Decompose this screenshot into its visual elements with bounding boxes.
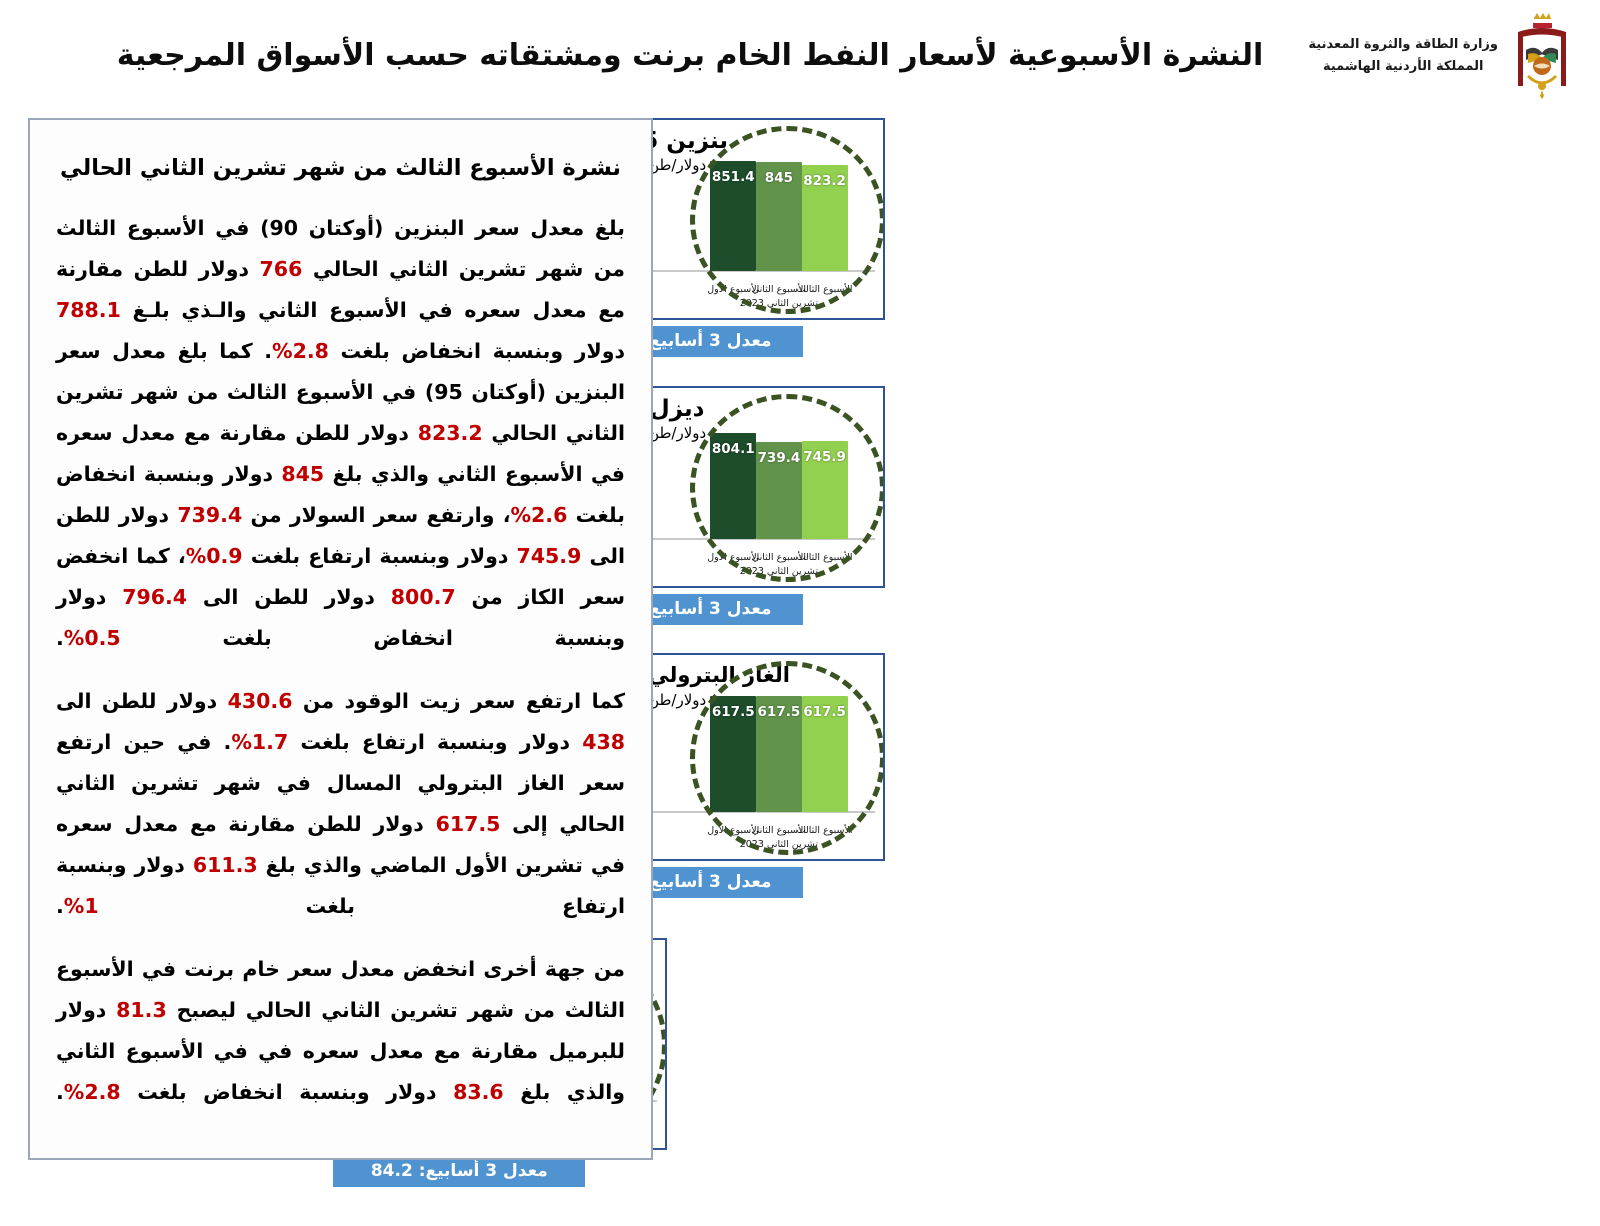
bar-value-label: 851.4 xyxy=(710,169,756,185)
highlighted-figure: 0.9% xyxy=(186,544,243,568)
paragraph-text: . xyxy=(56,1080,64,1104)
page-title: النشرة الأسبوعية لأسعار النفط الخام برنت… xyxy=(0,34,1300,78)
axis-tick-week-3: الأسبوع الثالث xyxy=(777,552,873,564)
axis-tick-current-month: تشرين الثاني 2023 xyxy=(694,298,864,310)
highlighted-figure: 1% xyxy=(64,894,99,918)
bar-value-label: 617.5 xyxy=(756,704,802,720)
bar-week-1: 617.5 xyxy=(710,696,756,811)
highlighted-figure: 2.8% xyxy=(64,1080,121,1104)
bar-value-label: 845 xyxy=(756,170,802,186)
paragraph-text: دولار وبنسبة ارتفاع بلغت xyxy=(288,730,582,754)
highlighted-figure: 845 xyxy=(281,462,324,486)
summary-paragraph: كما ارتفع سعر زيت الوقود من 430.6 دولار … xyxy=(56,681,625,927)
highlighted-figure: 1.7% xyxy=(231,730,288,754)
bar-week-3: 745.9 xyxy=(802,441,848,539)
summary-panel: نشرة الأسبوع الثالث من شهر تشرين الثاني … xyxy=(28,118,653,1160)
three-week-average-banner: معدل 3 أسابيع: 84.2 xyxy=(333,1156,585,1187)
highlighted-figure: 745.9 xyxy=(517,544,582,568)
paragraph-text: دولار للطن الى xyxy=(56,689,228,713)
axis-tick-week-3: الأسبوع الثالث xyxy=(777,284,873,296)
paragraph-text: . xyxy=(56,626,64,650)
bar-value-label: 804.1 xyxy=(710,441,756,457)
bar-week-2: 617.5 xyxy=(756,696,802,811)
bar-week-3: 823.2 xyxy=(802,165,848,272)
page-header: وزارة الطاقة والثروة المعدنية المملكة ال… xyxy=(0,0,1600,112)
ministry-name-line1: وزارة الطاقة والثروة المعدنية xyxy=(1308,37,1498,53)
jordan-coat-of-arms-icon xyxy=(1504,10,1576,102)
axis-tick-current-month: تشرين الثاني 2023 xyxy=(694,839,864,851)
paragraph-text: دولار للطن الى xyxy=(187,585,391,609)
highlighted-figure: 800.7 xyxy=(391,585,456,609)
bar-week-1: 804.1 xyxy=(710,433,756,539)
paragraph-text: دولار وبنسبة انخفاض بلغت xyxy=(121,1080,453,1104)
highlighted-figure: 617.5 xyxy=(436,812,501,836)
bulletin-page: وزارة الطاقة والثروة المعدنية المملكة ال… xyxy=(0,0,1600,1226)
bar-week-2: 739.4 xyxy=(756,442,802,539)
bar-value-label: 739.4 xyxy=(756,450,802,466)
paragraph-text: . xyxy=(56,894,64,918)
ministry-logo: وزارة الطاقة والثروة المعدنية المملكة ال… xyxy=(1300,0,1600,112)
summary-paragraph: من جهة أخرى انخفض معدل سعر خام برنت في ا… xyxy=(56,949,625,1113)
bar-week-1: 851.4 xyxy=(710,161,756,271)
highlighted-figure: 0.5% xyxy=(64,626,121,650)
summary-paragraphs: بلغ معدل سعر البنزين (أوكتان 90) في الأس… xyxy=(56,208,625,1113)
highlighted-figure: 766 xyxy=(260,257,303,281)
highlighted-figure: 2.8% xyxy=(272,339,329,363)
ministry-name-line2: المملكة الأردنية الهاشمية xyxy=(1323,59,1484,75)
bar-value-label: 823.2 xyxy=(802,173,848,189)
bar-value-label: 745.9 xyxy=(802,449,848,465)
highlighted-figure: 83.6 xyxy=(453,1080,504,1104)
highlighted-figure: 796.4 xyxy=(122,585,187,609)
summary-paragraph: بلغ معدل سعر البنزين (أوكتان 90) في الأس… xyxy=(56,208,625,659)
highlighted-figure: 823.2 xyxy=(418,421,483,445)
axis-tick-current-month: تشرين الثاني 2023 xyxy=(694,566,864,578)
bar-week-3: 617.5 xyxy=(802,696,848,811)
bar-week-2: 845 xyxy=(756,162,802,271)
bar-value-label: 617.5 xyxy=(802,704,848,720)
highlighted-figure: 81.3 xyxy=(116,998,167,1022)
paragraph-text: ، وارتفع سعر السولار من xyxy=(242,503,510,527)
highlighted-figure: 430.6 xyxy=(228,689,293,713)
paragraph-text: دولار وبنسبة انخفاض بلغت xyxy=(329,339,625,363)
bar-value-label: 617.5 xyxy=(710,704,756,720)
paragraph-text: دولار وبنسبة ارتفاع بلغت xyxy=(243,544,517,568)
summary-title: نشرة الأسبوع الثالث من شهر تشرين الثاني … xyxy=(56,152,625,186)
highlighted-figure: 2.6% xyxy=(511,503,568,527)
highlighted-figure: 788.1 xyxy=(56,298,121,322)
highlighted-figure: 611.3 xyxy=(193,853,258,877)
highlighted-figure: 438 xyxy=(582,730,625,754)
axis-tick-week-3: الأسبوع الثالث xyxy=(777,825,873,837)
highlighted-figure: 739.4 xyxy=(177,503,242,527)
paragraph-text: كما ارتفع سعر زيت الوقود من xyxy=(292,689,625,713)
